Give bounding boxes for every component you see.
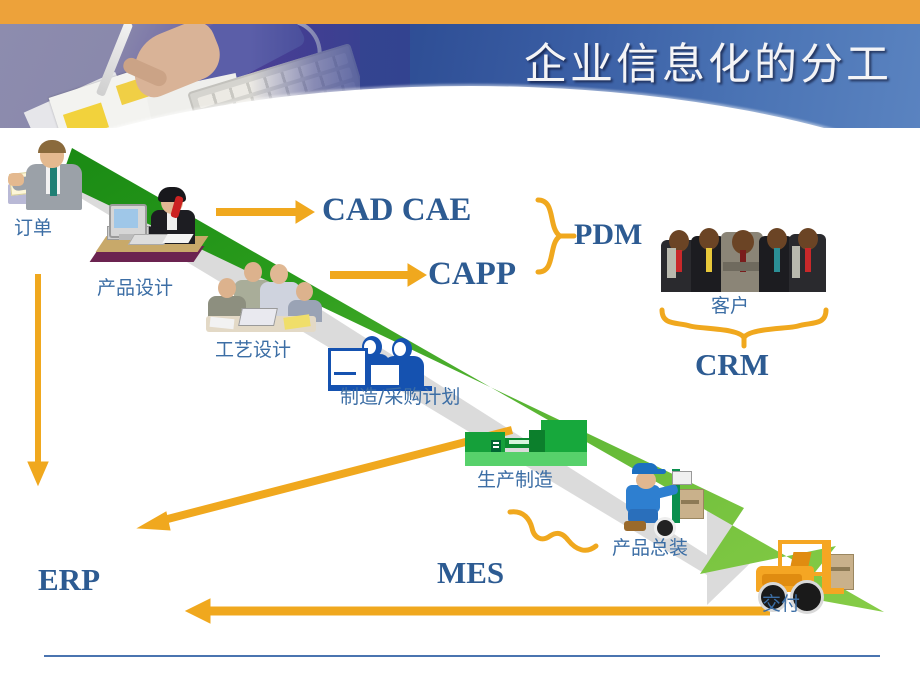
footer-rule [44, 655, 880, 657]
arrow-to-cad-cae [216, 201, 314, 223]
label-process-design: 工艺设计 [215, 335, 291, 362]
label-delivery: 交付 [762, 589, 800, 616]
label-final-assembly: 产品总装 [612, 533, 688, 560]
label-production: 生产制造 [477, 465, 553, 492]
label-erp: ERP [38, 562, 100, 598]
arrow-to-capp [330, 264, 426, 286]
label-crm: CRM [695, 347, 769, 383]
arrow-delivery-to-erp [186, 599, 770, 623]
label-capp: CAPP [428, 256, 516, 293]
clipart-production-machine [465, 416, 587, 472]
label-mes: MES [437, 555, 504, 591]
arrow-plan-to-erp [138, 430, 512, 530]
label-product-design: 产品设计 [97, 273, 173, 300]
header-orange-bar [0, 0, 920, 24]
brace-mes [510, 512, 596, 551]
brace-pdm [538, 200, 574, 272]
clipart-final-assembly-worker [614, 463, 698, 535]
arrow-order-to-erp [28, 274, 48, 485]
clipart-process-design-team [200, 256, 324, 338]
label-pdm: PDM [574, 218, 642, 252]
label-customer: 客户 [711, 291, 749, 318]
clipart-product-design [95, 190, 207, 272]
page-title: 企业信息化的分工 [524, 30, 892, 92]
label-mfg-purchase-plan: 制造/采购计划 [340, 382, 460, 409]
label-order: 订单 [14, 213, 52, 240]
clipart-customers [661, 228, 826, 292]
label-cad-cae: CAD CAE [322, 192, 471, 229]
diagram-canvas: CAD CAE CAPP PDM CRM ERP MES 订单 产品设计 工艺设… [0, 128, 920, 690]
clipart-order-person [8, 142, 96, 212]
slide-canvas: 企业信息化的分工 [0, 0, 920, 690]
